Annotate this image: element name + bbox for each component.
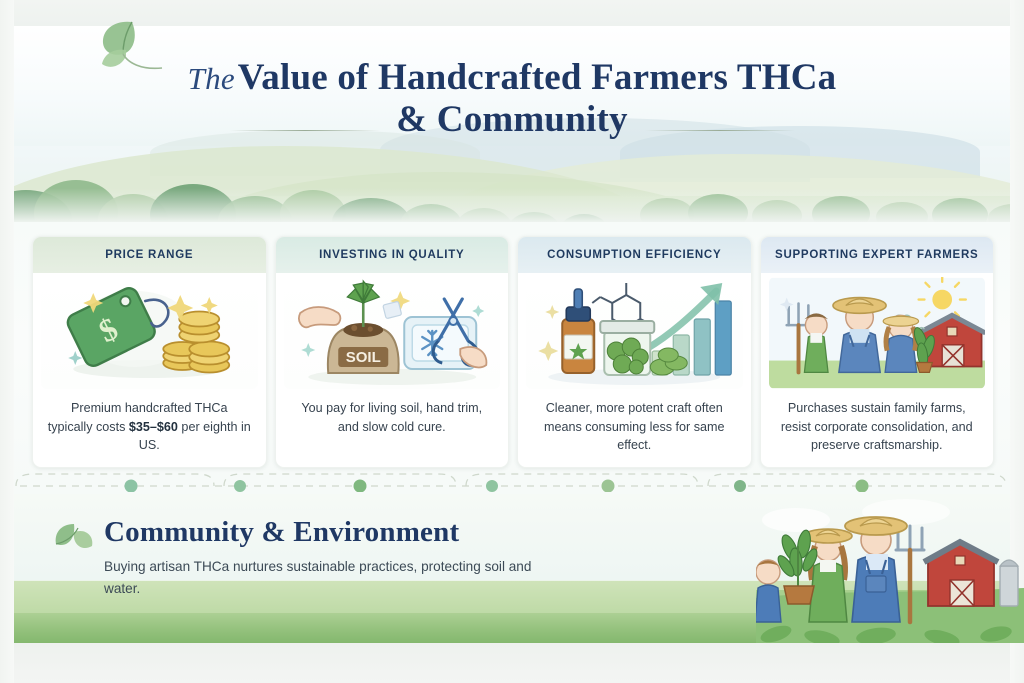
banner-bottom-fade [0,188,1024,222]
card-row: PRICE RANGE $ [32,236,994,468]
leaf-sprig-icon [96,16,166,78]
title-line-2: & Community [0,100,1024,139]
svg-text:SOIL: SOIL [345,349,380,366]
card-body-text: Purchases sustain family farms, resist c… [775,399,980,455]
card-body-text: You pay for living soil, hand trim, and … [290,399,495,436]
hand-planting-soil-and-scissors-icon: SOIL [284,277,501,389]
farmers-family-and-barn-icon [769,277,986,389]
price-tag-and-coins-icon: $ [41,277,258,389]
price-highlight: $35–$60 [129,420,178,434]
card-connector-line [0,470,1024,492]
card-consumption-efficiency[interactable]: CONSUMPTION EFFICIENCY [517,236,752,468]
frame-bottom [0,643,1024,683]
community-text-block: Community & Environment Buying artisan T… [52,516,572,600]
farm-family-landscape-icon [756,494,1024,643]
card-heading: CONSUMPTION EFFICIENCY [518,237,751,273]
card-body: Premium handcrafted THCa typically costs… [33,389,266,467]
title-line-1: Value of Handcrafted Farmers THCa [238,57,837,98]
card-heading: PRICE RANGE [33,237,266,273]
card-body: Purchases sustain family farms, resist c… [761,389,994,467]
dropper-jar-molecule-bar-chart-icon: THC [526,277,743,389]
title-prefix: The [188,61,238,96]
card-investing-in-quality[interactable]: INVESTING IN QUALITY SOIL [275,236,510,468]
community-subtitle: Buying artisan THCa nurtures sustainable… [52,556,544,600]
card-heading: INVESTING IN QUALITY [276,237,509,273]
infographic-poster: TheValue of Handcrafted Farmers THCa & C… [0,0,1024,683]
leaf-pair-icon [52,522,96,556]
community-title: Community & Environment [52,516,572,549]
card-price-range[interactable]: PRICE RANGE $ [32,236,267,468]
card-body: Cleaner, more potent craft often means c… [518,389,751,467]
card-supporting-expert-farmers[interactable]: SUPPORTING EXPERT FARMERS [760,236,995,468]
card-body-text: Cleaner, more potent craft often means c… [532,399,737,455]
community-environment-section: Community & Environment Buying artisan T… [0,494,1024,643]
card-body: You pay for living soil, hand trim, and … [276,389,509,467]
card-heading: SUPPORTING EXPERT FARMERS [761,237,994,273]
